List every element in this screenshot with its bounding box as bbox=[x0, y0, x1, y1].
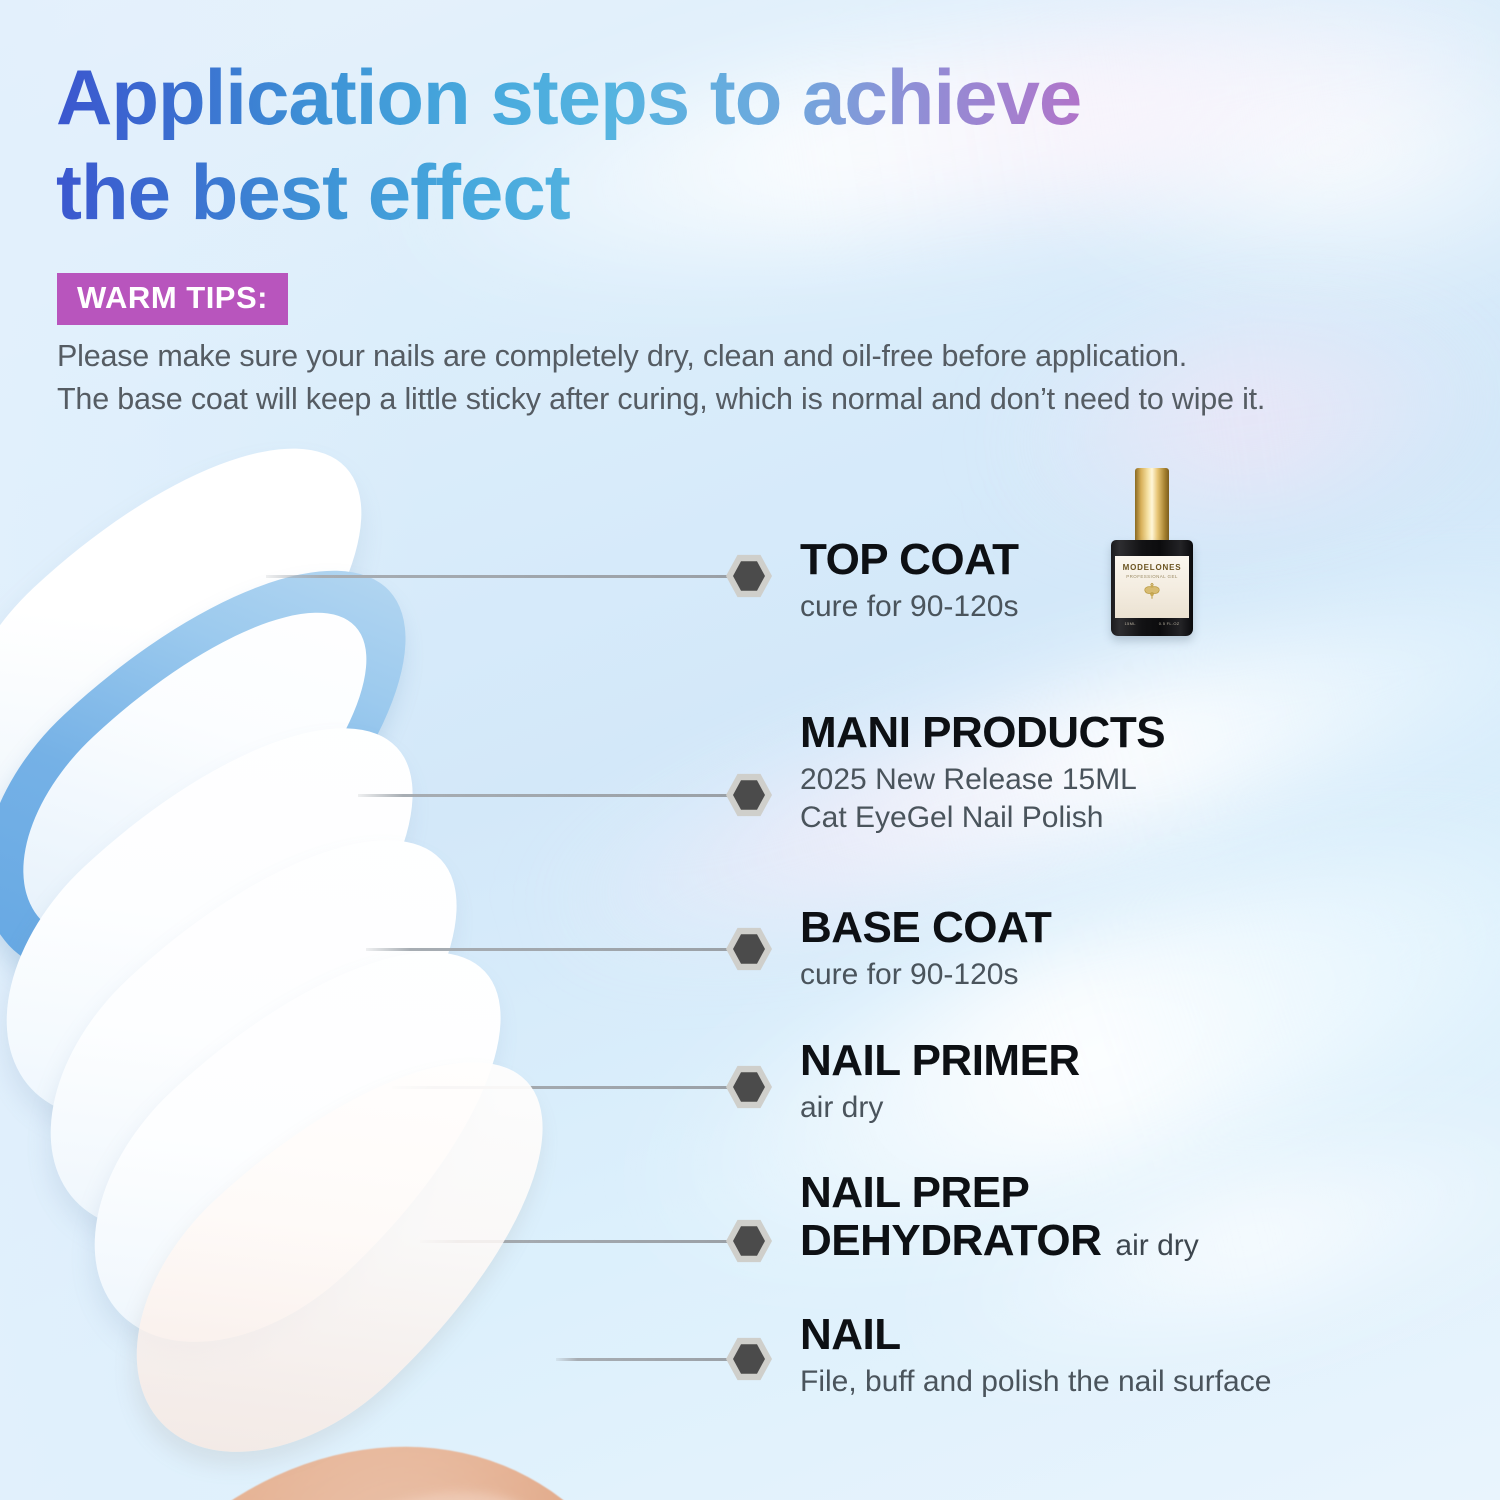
step-title-nail-prep-dehydrator-line2: DEHYDRATORair dry bbox=[800, 1218, 1199, 1264]
layered-nail-diagram bbox=[0, 380, 760, 1500]
hexagon-marker-nail-prep-dehydrator[interactable] bbox=[726, 1218, 772, 1264]
bottle-cap bbox=[1135, 468, 1169, 544]
step-label-nail-prep-dehydrator: NAIL PREP DEHYDRATORair dry bbox=[800, 1170, 1199, 1264]
warm-tips-line2: The base coat will keep a little sticky … bbox=[57, 378, 1457, 421]
product-bottle-image: MODELONES PROFESSIONAL GEL 15ML 0.5 FL.O bbox=[1108, 468, 1196, 636]
step-label-nail: NAIL File, buff and polish the nail surf… bbox=[800, 1312, 1271, 1400]
hexagon-marker-mani-products[interactable] bbox=[726, 772, 772, 818]
page-title-line2: the best effect bbox=[56, 145, 1456, 240]
step-label-mani-products: MANI PRODUCTS 2025 New Release 15ML Cat … bbox=[800, 710, 1165, 836]
step-label-base-coat: BASE COAT cure for 90-120s bbox=[800, 905, 1051, 993]
step-subtitle-nail: File, buff and polish the nail surface bbox=[800, 1363, 1271, 1400]
leader-line-mani-products bbox=[358, 794, 736, 797]
hexagon-marker-nail-primer[interactable] bbox=[726, 1064, 772, 1110]
poster-canvas: Application steps to achieve the best ef… bbox=[0, 0, 1500, 1500]
step-label-nail-primer: NAIL PRIMER air dry bbox=[800, 1038, 1080, 1126]
leader-line-nail bbox=[556, 1358, 736, 1361]
step-inline-note-dehydrator: air dry bbox=[1115, 1229, 1198, 1262]
bottle-volume-right: 0.5 FL.OZ bbox=[1159, 621, 1180, 626]
hexagon-marker-base-coat[interactable] bbox=[726, 926, 772, 972]
step-title-nail-prep-dehydrator-line1: NAIL PREP bbox=[800, 1170, 1199, 1216]
page-title: Application steps to achieve the best ef… bbox=[56, 50, 1456, 240]
step-subtitle-top-coat: cure for 90-120s bbox=[800, 588, 1018, 625]
step-subtitle-mani-products-1: 2025 New Release 15ML bbox=[800, 761, 1165, 798]
hexagon-marker-nail[interactable] bbox=[726, 1336, 772, 1382]
warm-tips-line1: Please make sure your nails are complete… bbox=[57, 335, 1457, 378]
step-title-dehydrator-word: DEHYDRATOR bbox=[800, 1216, 1101, 1265]
bottle-tagline-text: PROFESSIONAL GEL bbox=[1115, 574, 1189, 579]
step-title-top-coat: TOP COAT bbox=[800, 537, 1018, 583]
step-label-top-coat: TOP COAT cure for 90-120s bbox=[800, 537, 1018, 625]
warm-tips-badge: WARM TIPS: bbox=[57, 273, 288, 325]
step-subtitle-mani-products-2: Cat EyeGel Nail Polish bbox=[800, 799, 1165, 836]
step-title-nail-primer: NAIL PRIMER bbox=[800, 1038, 1080, 1084]
leader-line-top-coat bbox=[266, 575, 736, 578]
step-title-base-coat: BASE COAT bbox=[800, 905, 1051, 951]
bottle-label: MODELONES PROFESSIONAL GEL bbox=[1115, 556, 1189, 618]
page-title-line1: Application steps to achieve bbox=[56, 53, 1081, 141]
step-subtitle-nail-primer: air dry bbox=[800, 1089, 1080, 1126]
step-title-mani-products: MANI PRODUCTS bbox=[800, 710, 1165, 756]
bottle-footer: 15ML 0.5 FL.OZ bbox=[1113, 619, 1191, 628]
bottle-brand-text: MODELONES bbox=[1115, 563, 1189, 572]
step-subtitle-base-coat: cure for 90-120s bbox=[800, 956, 1051, 993]
hexagon-marker-top-coat[interactable] bbox=[726, 553, 772, 599]
bottle-volume-left: 15ML bbox=[1125, 621, 1136, 626]
leader-line-base-coat bbox=[366, 948, 736, 951]
step-title-nail: NAIL bbox=[800, 1312, 1271, 1358]
bee-emblem-icon bbox=[1115, 580, 1189, 608]
warm-tips-text: Please make sure your nails are complete… bbox=[57, 335, 1457, 422]
